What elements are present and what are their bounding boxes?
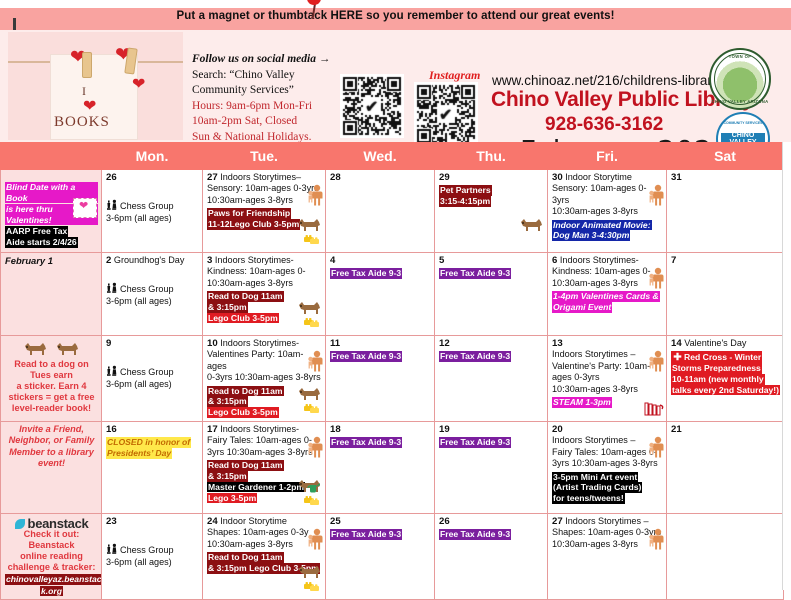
town-of-chino-valley-logo-icon: TOWN OF CHINO VALLEY ARIZONA xyxy=(709,48,771,110)
chess-group-label: Chess Group xyxy=(120,367,174,377)
calendar-week-row: Invite a Friend,Neighbor, or FamilyMembe… xyxy=(1,422,784,514)
day-number: 21 xyxy=(671,424,682,435)
person-icon xyxy=(307,184,323,209)
weekday-header-mon: Mon. xyxy=(102,143,203,170)
calendar-day-cell[interactable]: 6 Indoors Storytimes-Kindness: 10am-ages… xyxy=(548,253,667,336)
day-event-line: 3yrs 10:30am-ages 3-8yrs xyxy=(207,447,322,458)
note-text-line: online reading xyxy=(5,551,98,562)
note-text-line: Read to a dog on xyxy=(5,359,98,370)
calendar-day-cell[interactable]: 3 Indoors Storytimes-Kindness: 10am-ages… xyxy=(203,253,326,336)
day-event-line: Sensory: 10am-ages 0-3yrs xyxy=(552,183,663,206)
note-highlight-line: Aide starts 2/4/26 xyxy=(5,237,78,248)
weekday-header-sat: Sat xyxy=(667,143,784,170)
day-highlight-event: Free Tax Aide 9-3 xyxy=(439,268,511,279)
chess-group-time: 3-6pm (all ages) xyxy=(106,379,199,390)
calendar-week-row: February 12 Groundhog's DayChess Group3-… xyxy=(1,253,784,336)
day-highlight-event: & 3:15pm xyxy=(207,396,248,407)
day-event-line: 0-3yrs 10:30am-ages 3-8yrs xyxy=(207,372,322,383)
dog-icon xyxy=(23,340,49,356)
day-number: 30 xyxy=(552,172,563,183)
calendar-day-cell[interactable] xyxy=(667,514,784,600)
note-highlight-line: AARP Free Tax xyxy=(5,226,68,237)
calendar-day-cell[interactable]: 24 Indoor StorytimeShapes: 10am-ages 0-3… xyxy=(203,514,326,600)
day-number: 5 xyxy=(439,255,444,266)
calendar-week-row: Read to a dog onTues earna sticker. Earn… xyxy=(1,336,784,422)
day-event-line: 10:30am-ages 3-8yrs xyxy=(207,539,322,550)
chess-icon xyxy=(106,367,120,377)
day-number: 10 xyxy=(207,338,218,349)
day-event-line: Kindness: 10am-ages 0- xyxy=(207,266,322,277)
heart-stamp-icon: ❤ xyxy=(73,198,97,218)
note-text-line: Tues earn xyxy=(5,370,98,381)
day-event-line: Shapes: 10am-ages 0-3y xyxy=(207,527,322,538)
note-text-line: Invite a Friend, xyxy=(5,424,98,435)
day-event-line: Shapes: 10am-ages 0-3yrs xyxy=(552,527,663,538)
thumbtack-banner: Put a magnet or thumbtack HERE so you re… xyxy=(0,8,791,30)
dog-icon xyxy=(297,216,323,232)
chess-group-label: Chess Group xyxy=(120,201,174,211)
day-event-line: 10:30am-ages 3-8yrs xyxy=(207,278,322,289)
day-highlight-event: 3-5pm Mini Art event xyxy=(552,472,638,483)
instagram-label: Instagram xyxy=(429,68,480,83)
day-highlight-event: Master Gardener 1-2pm xyxy=(207,482,305,493)
day-highlight-event: 10-11am (new monthly xyxy=(671,374,765,385)
person-icon xyxy=(648,267,664,292)
hours-line2: 10am-2pm Sat, Closed xyxy=(192,114,337,130)
chess-group-label: Chess Group xyxy=(120,545,174,555)
calendar-week-row: Blind Date with a Bookis here thru Valen… xyxy=(1,170,784,253)
hours-line1: Hours: 9am-6pm Mon-Fri xyxy=(192,99,337,115)
dog-icon xyxy=(55,340,81,356)
calendar-day-cell[interactable]: 26Chess Group3-6pm (all ages) xyxy=(102,170,203,253)
calendar-day-cell[interactable]: 19Free Tax Aide 9-3 xyxy=(435,422,548,514)
day-highlight-event: Free Tax Aide 9-3 xyxy=(330,268,402,279)
note-month-label: February 1 xyxy=(5,255,98,266)
day-number: 12 xyxy=(439,338,450,349)
lego-icon xyxy=(303,494,321,509)
day-number: 16 xyxy=(106,424,117,435)
chess-group-time: 3-6pm (all ages) xyxy=(106,557,199,568)
day-number: 31 xyxy=(671,172,682,183)
chess-group-label: Chess Group xyxy=(120,284,174,294)
person-icon xyxy=(648,436,664,461)
day-event-line: Indoors Storytimes – xyxy=(552,349,663,360)
calendar-day-cell[interactable]: 5Free Tax Aide 9-3 xyxy=(435,253,548,336)
chess-icon xyxy=(106,201,120,211)
day-highlight-event: Read to Dog 11am xyxy=(207,291,284,302)
social-lead: Follow us on social media → xyxy=(192,52,337,68)
weekday-header-blank xyxy=(1,143,102,170)
day-number: 20 xyxy=(552,424,563,435)
day-event-title: Indoors Storytimes- xyxy=(220,424,299,434)
day-event-line: Fairy Tales: 10am-ages 0- xyxy=(207,435,322,446)
thumbtack-banner-text: Put a magnet or thumbtack HERE so you re… xyxy=(0,10,791,22)
chess-group-time: 3-6pm (all ages) xyxy=(106,296,199,307)
dog-icon xyxy=(519,216,545,232)
day-highlight-event: talks every 2nd Saturday!) xyxy=(671,385,780,396)
note-text-line: event! xyxy=(5,458,98,469)
lego-icon xyxy=(303,316,321,331)
day-highlight-event: Free Tax Aide 9-3 xyxy=(439,529,511,540)
clothespin-icon xyxy=(82,52,92,78)
weekday-header-tue: Tue. xyxy=(203,143,326,170)
xylophone-icon xyxy=(644,400,664,419)
calendar-day-cell[interactable]: 11Free Tax Aide 9-3 xyxy=(326,336,435,422)
library-url[interactable]: www.chinoaz.net/216/childrens-library xyxy=(492,73,719,88)
day-highlight-event: for teens/tweens! xyxy=(552,493,625,504)
day-event-line: 10:30am-ages 3-8yrs xyxy=(552,539,663,550)
day-number: 6 xyxy=(552,255,557,266)
day-event-line: 3yrs 10:30am-ages 3-8yrs xyxy=(552,458,663,469)
calendar-day-cell[interactable]: 17 Indoors Storytimes-Fairy Tales: 10am-… xyxy=(203,422,326,514)
masthead: ❤ ❤ ❤ I ❤ BOOKS Follow us on social medi… xyxy=(0,30,791,142)
calendar-note-cell: Read to a dog onTues earna sticker. Earn… xyxy=(1,336,102,422)
calendar-day-cell[interactable]: 27 Indoors Storytimes–Sensory: 10am-ages… xyxy=(203,170,326,253)
day-event-line: ages 0-3yrs xyxy=(552,372,663,383)
day-event-line: Kindness: 10am-ages 0- xyxy=(552,266,663,277)
beanstack-url[interactable]: k.org xyxy=(40,586,63,597)
day-number: 19 xyxy=(439,424,450,435)
day-number: 13 xyxy=(552,338,563,349)
day-event-line: Valentine's Party: 10am- xyxy=(552,361,663,372)
calendar-day-cell[interactable]: 23Chess Group3-6pm (all ages) xyxy=(102,514,203,600)
calendar-day-cell[interactable]: 31 xyxy=(667,170,784,253)
day-number: 25 xyxy=(330,516,341,527)
calendar-day-cell[interactable]: 9Chess Group3-6pm (all ages) xyxy=(102,336,203,422)
note-text-line: Check it out: Beanstack xyxy=(5,529,98,551)
note-text-line: stickers = get a free xyxy=(5,392,98,403)
day-highlight-event: Lego Club 3-5pm xyxy=(207,407,279,418)
day-highlight-event: Storms Preparedness xyxy=(671,363,762,374)
day-highlight-event: Red Cross - Winter xyxy=(671,351,762,363)
day-number: 27 xyxy=(207,172,218,183)
calendar-day-cell[interactable]: 20Indoors Storytimes –Fairy Tales: 10am-… xyxy=(548,422,667,514)
calendar-day-cell[interactable]: 7 xyxy=(667,253,784,336)
lego-icon xyxy=(303,402,321,417)
day-highlight-event: Presidents’ Day xyxy=(106,448,172,459)
calendar-note-cell: Invite a Friend,Neighbor, or FamilyMembe… xyxy=(1,422,102,514)
person-icon xyxy=(307,350,323,375)
calendar-day-cell[interactable]: 28 xyxy=(326,170,435,253)
social-line2: Community Services” xyxy=(192,83,337,99)
calendar-day-cell[interactable]: 25Free Tax Aide 9-3 xyxy=(326,514,435,600)
day-event-title: Indoors Storytimes- xyxy=(215,255,294,265)
calendar-day-cell[interactable]: 29Pet Partners3:15-4:15pm xyxy=(435,170,548,253)
social-media-block: Follow us on social media → Search: “Chi… xyxy=(192,52,337,145)
day-event-title: Indoor Storytime xyxy=(565,172,632,182)
day-highlight-event: Free Tax Aide 9-3 xyxy=(330,351,402,362)
calendar-page: Put a magnet or thumbtack HERE so you re… xyxy=(0,0,791,590)
day-highlight-event: Indoor Animated Movie: xyxy=(552,220,652,231)
dog-icon xyxy=(297,299,323,315)
calendar-week-row: beanstackCheck it out: Beanstackonline r… xyxy=(1,514,784,600)
heart-icon: ❤ xyxy=(83,96,96,116)
person-icon xyxy=(307,436,323,461)
person-icon xyxy=(648,528,664,553)
calendar-day-cell[interactable]: 18Free Tax Aide 9-3 xyxy=(326,422,435,514)
day-highlight-event: & 3:15pm xyxy=(207,302,248,313)
day-number: 26 xyxy=(439,516,450,527)
calendar-day-cell[interactable]: 4Free Tax Aide 9-3 xyxy=(326,253,435,336)
day-highlight-event: 1-4pm Valentines Cards & xyxy=(552,291,660,302)
day-highlight-event: Dog Man 3-4:30pm xyxy=(552,230,630,241)
day-number: 17 xyxy=(207,424,218,435)
leaf-icon xyxy=(15,519,25,529)
calendar-day-cell[interactable]: 16CLOSED in honor ofPresidents’ Day xyxy=(102,422,203,514)
day-highlight-event: Lego Club 3-5pm xyxy=(207,313,279,324)
day-event-line: 10:30am-ages 3-8yrs xyxy=(552,278,663,289)
day-highlight-event: Read to Dog 11am xyxy=(207,386,284,397)
day-event-title: Indoors Storytimes- xyxy=(220,338,299,348)
day-event-title: Indoors Storytimes – xyxy=(565,516,648,526)
day-highlight-event: CLOSED in honor of xyxy=(106,437,191,448)
day-event-title: Indoor Storytime xyxy=(220,516,287,526)
day-event-line: 10:30am-ages 3-8yrs xyxy=(552,206,663,217)
day-highlight-event: Free Tax Aide 9-3 xyxy=(330,529,402,540)
day-event-title: Indoors Storytimes- xyxy=(560,255,639,265)
vertical-scrollbar[interactable] xyxy=(782,142,791,590)
library-phone: 928-636-3162 xyxy=(545,114,663,136)
calendar-day-cell[interactable]: 2 Groundhog's DayChess Group3-6pm (all a… xyxy=(102,253,203,336)
day-highlight-event: 11-12Lego Club 3-5pm xyxy=(207,219,300,230)
day-number: 26 xyxy=(106,172,117,183)
pushpin-icon xyxy=(307,0,321,18)
note-text-line: level-reader book! xyxy=(5,403,98,414)
weekday-header-wed: Wed. xyxy=(326,143,435,170)
dog-icon xyxy=(297,385,323,401)
day-highlight-event: & 3:15pm xyxy=(207,471,248,482)
day-highlight-event: Read to Dog 11am xyxy=(207,552,284,563)
note-text-line: a sticker. Earn 4 xyxy=(5,381,98,392)
calendar-day-cell[interactable]: 10 Indoors Storytimes-Valentines Party: … xyxy=(203,336,326,422)
calendar-note-cell: February 1 xyxy=(1,253,102,336)
facebook-qr-code[interactable] xyxy=(340,74,404,138)
photo-books-text: BOOKS xyxy=(54,114,110,131)
calendar-day-cell[interactable]: 26Free Tax Aide 9-3 xyxy=(435,514,548,600)
day-highlight-event: Paws for Friendship xyxy=(207,208,291,219)
day-number: 11 xyxy=(330,338,340,349)
beanstack-url[interactable]: chinovalleyaz.beanstac xyxy=(5,574,102,585)
chess-icon xyxy=(106,284,120,294)
town-logo-bottom-text: CHINO VALLEY ARIZONA xyxy=(711,99,769,104)
town-logo-top-text: TOWN OF xyxy=(711,54,769,59)
social-line1: Search: “Chino Valley xyxy=(192,68,337,84)
weekday-header-row: Mon. Tue. Wed. Thu. Fri. Sat xyxy=(1,143,784,170)
calendar-table: Mon. Tue. Wed. Thu. Fri. Sat Blind Date … xyxy=(0,142,784,600)
calendar-note-cell: beanstackCheck it out: Beanstackonline r… xyxy=(1,514,102,600)
heart-icon: ❤ xyxy=(132,74,145,94)
day-highlight-event: Free Tax Aide 9-3 xyxy=(330,437,402,448)
chess-group-time: 3-6pm (all ages) xyxy=(106,213,199,224)
day-number: 18 xyxy=(330,424,341,435)
day-highlight-event: STEAM 1-3pm xyxy=(552,397,612,408)
calendar-day-cell[interactable]: 13Indoors Storytimes –Valentine's Party:… xyxy=(548,336,667,422)
day-event-line: Valentines Party: 10am-ages xyxy=(207,349,322,372)
day-number: 29 xyxy=(439,172,450,183)
day-number: 7 xyxy=(671,255,676,266)
day-number: 14 xyxy=(671,338,682,349)
day-event-title: Groundhog's Day xyxy=(114,255,185,265)
day-highlight-event: Origami Event xyxy=(552,302,612,313)
day-event-line: 10:30am-ages 3-8yrs xyxy=(552,384,663,395)
day-number: 27 xyxy=(552,516,563,527)
day-number: 24 xyxy=(207,516,218,527)
day-number: 9 xyxy=(106,338,111,349)
calendar-note-cell: Blind Date with a Bookis here thru Valen… xyxy=(1,170,102,253)
calendar-day-cell[interactable]: 27 Indoors Storytimes –Shapes: 10am-ages… xyxy=(548,514,667,600)
day-event-title: Valentine's Day xyxy=(684,338,746,348)
day-number: 23 xyxy=(106,516,117,527)
day-highlight-event: Pet Partners xyxy=(439,185,492,196)
note-text-line: Member to a library xyxy=(5,447,98,458)
lego-icon xyxy=(303,580,321,595)
day-event-line: Indoors Storytimes – xyxy=(552,435,663,446)
calendar-day-cell[interactable]: 12Free Tax Aide 9-3 xyxy=(435,336,548,422)
day-number: 28 xyxy=(330,172,341,183)
i-love-books-photo: ❤ ❤ ❤ I ❤ BOOKS xyxy=(8,32,183,140)
cv-logo-small-text: COMMUNITY SERVICES xyxy=(718,121,768,125)
day-number: 2 xyxy=(106,255,111,266)
day-event-line: 10:30am-ages 3-8yrs xyxy=(207,195,322,206)
weekday-header-fri: Fri. xyxy=(548,143,667,170)
weekday-header-thu: Thu. xyxy=(435,143,548,170)
dog-icon xyxy=(297,563,323,579)
calendar-day-cell[interactable]: 14 Valentine's DayRed Cross - WinterStor… xyxy=(667,336,784,422)
person-icon xyxy=(648,184,664,209)
day-highlight-event: 3:15-4:15pm xyxy=(439,196,491,207)
day-highlight-event: (Artist Trading Cards) xyxy=(552,482,642,493)
calendar-grid: Mon. Tue. Wed. Thu. Fri. Sat Blind Date … xyxy=(0,142,791,590)
beanstack-logo: beanstack xyxy=(5,518,98,529)
note-text-line: challenge & tracker: xyxy=(5,562,98,573)
note-text-line: Neighbor, or Family xyxy=(5,435,98,446)
day-highlight-event: Lego 3-5pm xyxy=(207,493,257,504)
person-icon xyxy=(648,350,664,375)
instagram-qr-code[interactable] xyxy=(414,82,478,146)
chess-icon xyxy=(106,545,120,555)
day-highlight-event: Free Tax Aide 9-3 xyxy=(439,351,511,362)
day-event-line: Sensory: 10am-ages 0-3yrs xyxy=(207,183,322,194)
day-highlight-event: Free Tax Aide 9-3 xyxy=(439,437,511,448)
calendar-day-cell[interactable]: 21 xyxy=(667,422,784,514)
day-event-line: Fairy Tales: 10am-ages 0- xyxy=(552,447,663,458)
day-number: 3 xyxy=(207,255,212,266)
day-highlight-event: Read to Dog 11am xyxy=(207,460,284,471)
person-icon xyxy=(307,528,323,553)
day-number: 4 xyxy=(330,255,335,266)
calendar-day-cell[interactable]: 30 Indoor StorytimeSensory: 10am-ages 0-… xyxy=(548,170,667,253)
lego-icon xyxy=(303,233,321,248)
day-event-title: Indoors Storytimes– xyxy=(220,172,301,182)
